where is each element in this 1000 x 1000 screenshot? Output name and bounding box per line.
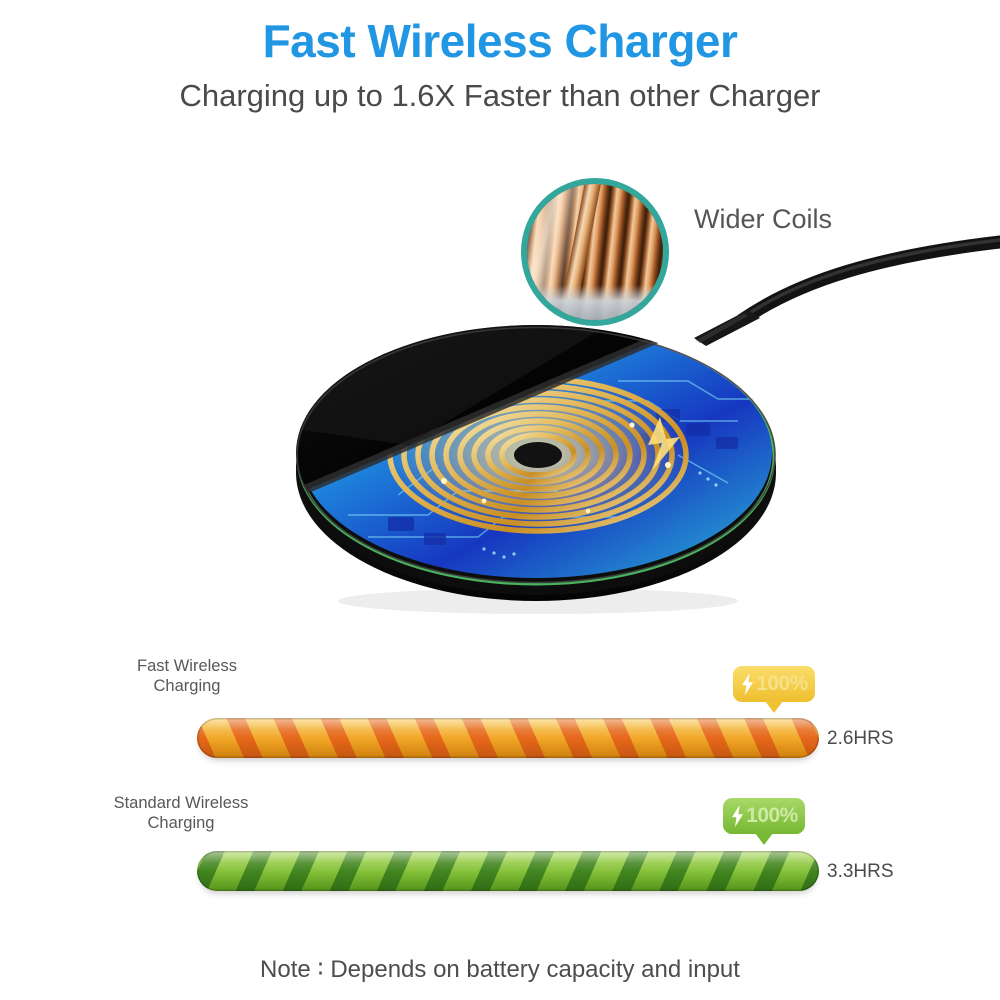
- badge-pointer: [765, 701, 783, 713]
- infographic-page: Fast Wireless Charger Charging up to 1.6…: [0, 0, 1000, 1000]
- standard-charging-percent-badge: 100%: [723, 798, 805, 834]
- footer-note: Note ∶ Depends on battery capacity and i…: [0, 955, 1000, 984]
- coil-chrome-base: [527, 285, 663, 320]
- fast-charging-bar-stripes: [197, 718, 819, 758]
- badge-pointer: [755, 833, 773, 845]
- standard-charging-duration: 3.3HRS: [827, 861, 894, 883]
- fast-charging-percent-text: 100%: [756, 672, 808, 696]
- charging-pad-illustration: [288, 305, 784, 615]
- standard-charging-label: Standard Wireless Charging: [114, 793, 249, 833]
- page-subtitle: Charging up to 1.6X Faster than other Ch…: [0, 78, 1000, 114]
- fast-charging-bar: [197, 718, 819, 758]
- standard-charging-bar: [197, 851, 819, 891]
- lightning-bolt-icon: [730, 805, 745, 827]
- coil-magnifier-callout: [521, 178, 669, 326]
- fast-charging-label-line2: Charging: [137, 676, 237, 696]
- standard-charging-label-line2: Charging: [114, 813, 249, 833]
- standard-charging-label-line1: Standard Wireless: [114, 793, 249, 813]
- product-scene: Wider Coils: [0, 160, 1000, 650]
- fast-charging-percent-badge: 100%: [733, 666, 815, 702]
- page-title: Fast Wireless Charger: [0, 14, 1000, 68]
- wireless-charging-pad: [288, 305, 784, 615]
- lightning-bolt-icon: [740, 673, 755, 695]
- wider-coils-label: Wider Coils: [694, 204, 832, 235]
- standard-charging-percent-text: 100%: [746, 804, 798, 828]
- fast-charging-label: Fast Wireless Charging: [137, 656, 237, 696]
- charging-comparison: Fast Wireless Charging 100% 2.6HRS Stand…: [0, 640, 1000, 910]
- fast-charging-duration: 2.6HRS: [827, 728, 894, 750]
- standard-charging-bar-stripes: [197, 851, 819, 891]
- fast-charging-label-line1: Fast Wireless: [137, 656, 237, 676]
